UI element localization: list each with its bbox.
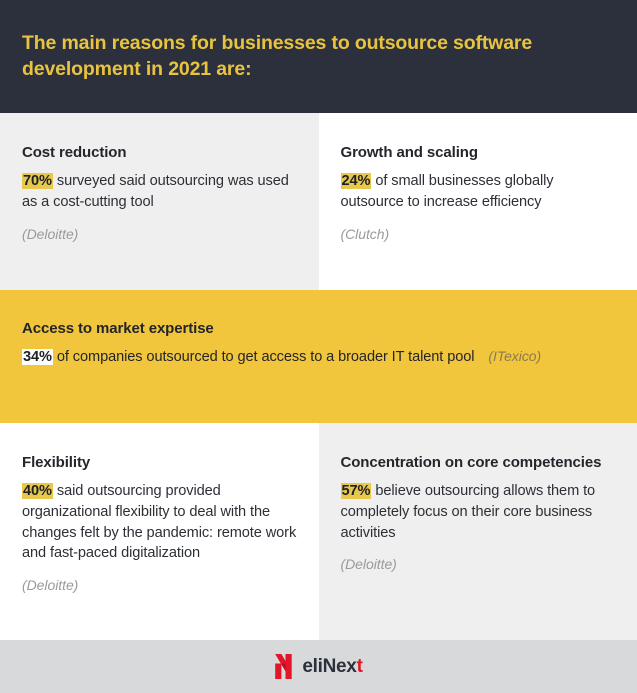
logo-text: eliNex (302, 656, 356, 677)
elinext-logo[interactable]: eliNext (274, 654, 362, 679)
stats-row-3: Flexibility 40% said outsourcing provide… (0, 423, 637, 640)
stat-card-body: 57% believe outsourcing allows them to c… (341, 481, 618, 543)
header-banner: The main reasons for businesses to outso… (0, 0, 637, 113)
stat-card-access-to-market-expertise: Access to market expertise 34% of compan… (0, 290, 637, 423)
stat-card-text: said outsourcing provided organizational… (22, 483, 296, 561)
stat-card-body: 70% surveyed said outsourcing was used a… (22, 171, 299, 212)
stat-card-title: Growth and scaling (341, 143, 618, 162)
stat-card-title: Flexibility (22, 453, 299, 472)
footer-bar: eliNext (0, 640, 637, 693)
stat-card-title: Cost reduction (22, 143, 299, 162)
stat-card-body: 40% said outsourcing provided organizati… (22, 481, 299, 564)
stat-card-body: 24% of small businesses globally outsour… (341, 171, 618, 212)
elinext-wordmark: eliNext (302, 657, 362, 676)
stat-card-title: Concentration on core competencies (341, 453, 618, 472)
stat-card-source: (Deloitte) (22, 226, 299, 242)
stat-percentage: 40% (22, 483, 53, 499)
elinext-n-mark-icon (274, 654, 293, 679)
stats-row-1: Cost reduction 70% surveyed said outsour… (0, 113, 637, 290)
stat-card-text: of small businesses globally outsource t… (341, 173, 554, 210)
stat-card-title: Access to market expertise (22, 319, 615, 338)
stat-card-flexibility: Flexibility 40% said outsourcing provide… (0, 423, 319, 640)
stat-card-text: believe outsourcing allows them to compl… (341, 483, 596, 540)
page-title: The main reasons for businesses to outso… (22, 31, 597, 83)
stat-card-concentration-on-core-competencies: Concentration on core competencies 57% b… (319, 423, 637, 640)
stat-percentage: 34% (22, 349, 53, 365)
stat-percentage: 24% (341, 173, 372, 189)
infographic-root: The main reasons for businesses to outso… (0, 0, 637, 693)
stat-percentage: 70% (22, 173, 53, 189)
stat-card-cost-reduction: Cost reduction 70% surveyed said outsour… (0, 113, 319, 290)
stat-card-source: (Deloitte) (341, 556, 618, 572)
logo-text-accent: t (357, 656, 363, 677)
stat-card-text: of companies outsourced to get access to… (53, 349, 474, 365)
stat-card-source: (Clutch) (341, 226, 618, 242)
stat-card-source: (ITexico) (488, 348, 541, 364)
stat-card-source: (Deloitte) (22, 577, 299, 593)
stat-card-growth-and-scaling: Growth and scaling 24% of small business… (319, 113, 637, 290)
stat-card-body: 34% of companies outsourced to get acces… (22, 347, 615, 368)
stat-percentage: 57% (341, 483, 372, 499)
stat-card-text: surveyed said outsourcing was used as a … (22, 173, 289, 210)
